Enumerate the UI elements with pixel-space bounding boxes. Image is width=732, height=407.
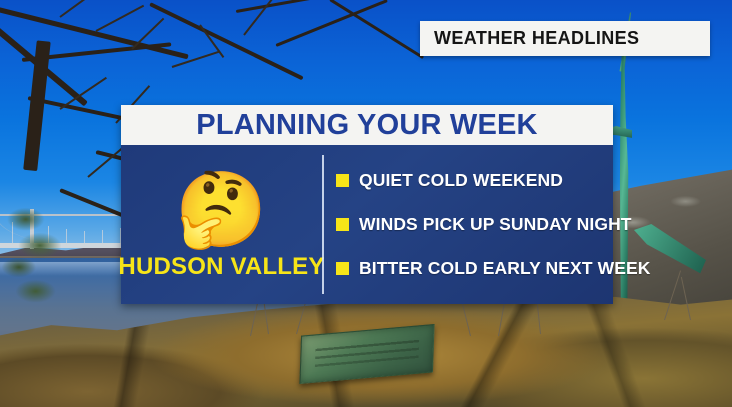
- panel-divider: [322, 155, 324, 294]
- weather-broadcast-graphic: WEATHER HEADLINES PLANNING YOUR WEEK 🤔 H…: [0, 0, 732, 407]
- planning-your-week-panel: PLANNING YOUR WEEK 🤔 HUDSON VALLEY QUIET…: [121, 105, 613, 304]
- evergreen-shrub: [2, 200, 72, 320]
- headline-bullet-list: QUIET COLD WEEKEND WINDS PICK UP SUNDAY …: [322, 145, 650, 304]
- list-item: WINDS PICK UP SUNDAY NIGHT: [336, 214, 650, 235]
- weather-headlines-banner: WEATHER HEADLINES: [420, 21, 710, 56]
- bridge-hanger: [84, 231, 85, 245]
- list-item: QUIET COLD WEEKEND: [336, 170, 650, 191]
- panel-body: 🤔 HUDSON VALLEY QUIET COLD WEEKEND WINDS…: [121, 145, 613, 304]
- plaque-inscription-lines: [315, 334, 420, 373]
- panel-title: PLANNING YOUR WEEK: [196, 109, 537, 142]
- bullet-square-icon: [336, 218, 349, 231]
- region-block: 🤔 HUDSON VALLEY: [121, 145, 322, 304]
- list-item: BITTER COLD EARLY NEXT WEEK: [336, 258, 650, 279]
- bullet-text: QUIET COLD WEEKEND: [359, 170, 563, 191]
- thinking-face-emoji: 🤔: [175, 173, 267, 247]
- bridge-hanger: [102, 230, 103, 245]
- weather-headlines-label: WEATHER HEADLINES: [434, 28, 639, 49]
- bullet-text: BITTER COLD EARLY NEXT WEEK: [359, 258, 650, 279]
- bullet-square-icon: [336, 174, 349, 187]
- bullet-text: WINDS PICK UP SUNDAY NIGHT: [359, 214, 632, 235]
- region-label: HUDSON VALLEY: [118, 253, 324, 281]
- panel-title-bar: PLANNING YOUR WEEK: [121, 105, 613, 145]
- bullet-square-icon: [336, 262, 349, 275]
